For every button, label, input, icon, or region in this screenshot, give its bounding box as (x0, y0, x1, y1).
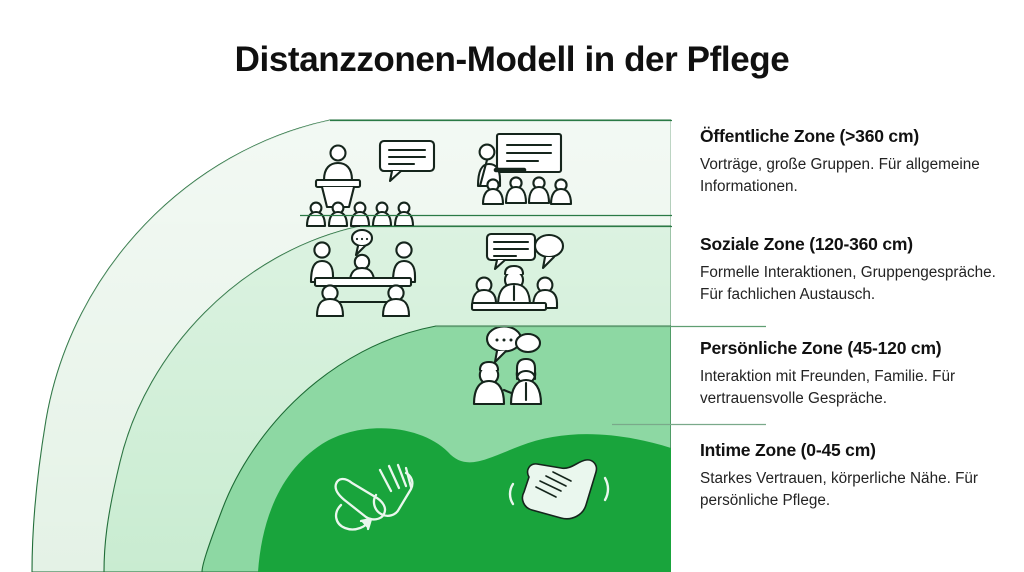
zone-description-personal: Interaktion mit Freunden, Familie. Für v… (700, 366, 1000, 409)
zone-label-social: Soziale Zone (120-360 cm) Formelle Inter… (700, 234, 1000, 305)
zone-description-social: Formelle Interaktionen, Gruppengespräche… (700, 262, 1000, 305)
zone-label-personal: Persönliche Zone (45-120 cm) Interaktion… (700, 338, 1000, 409)
zone-description-intimate: Starkes Vertrauen, körperliche Nähe. Für… (700, 468, 1000, 511)
zone-title-intimate: Intime Zone (0-45 cm) (700, 440, 1000, 461)
zone-title-social: Soziale Zone (120-360 cm) (700, 234, 1000, 255)
zone-label-intimate: Intime Zone (0-45 cm) Starkes Vertrauen,… (700, 440, 1000, 511)
infographic-canvas: Distanzzonen-Modell in der Pflege (0, 0, 1024, 572)
zone-title-public: Öffentliche Zone (>360 cm) (700, 126, 1000, 147)
zone-description-public: Vorträge, große Gruppen. Für allgemeine … (700, 154, 1000, 197)
zone-title-personal: Persönliche Zone (45-120 cm) (700, 338, 1000, 359)
zone-label-public: Öffentliche Zone (>360 cm) Vorträge, gro… (700, 126, 1000, 197)
